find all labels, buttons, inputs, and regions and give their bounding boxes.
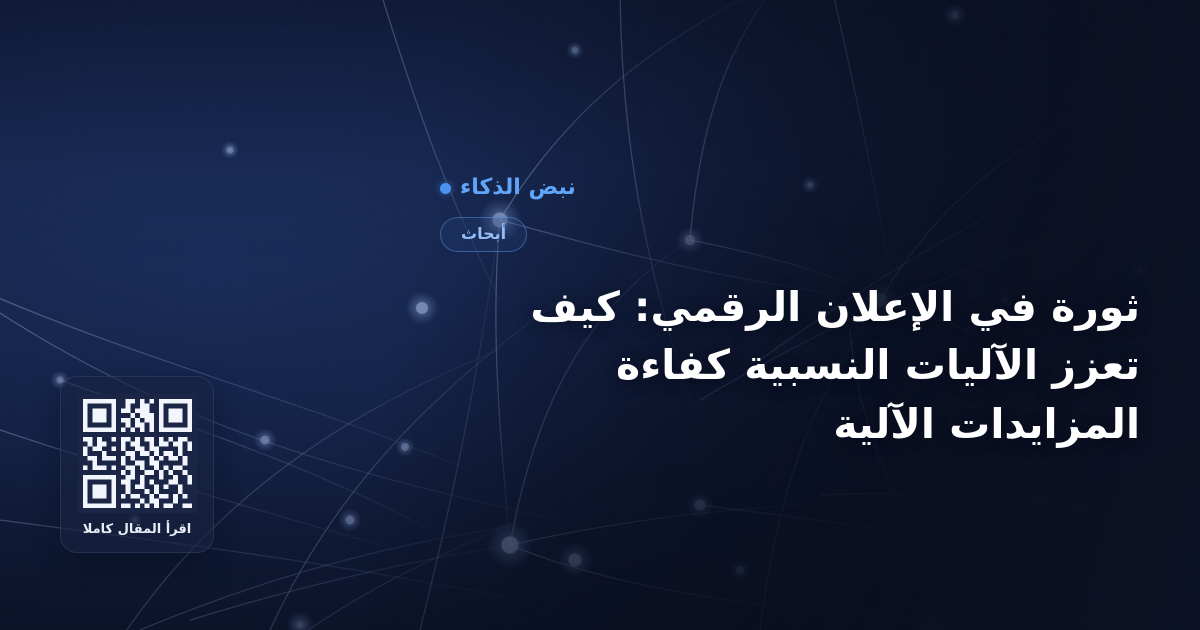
category-badge[interactable]: أبحاث — [440, 217, 527, 252]
social-share-card: اقرأ المقال كاملا نبض الذكاء أبحاث ثورة … — [0, 0, 1200, 630]
content-column: نبض الذكاء أبحاث ثورة في الإعلان الرقمي:… — [440, 0, 1200, 630]
brand-dot-icon — [440, 183, 451, 194]
qr-card[interactable]: اقرأ المقال كاملا — [60, 376, 214, 553]
page-title: ثورة في الإعلان الرقمي: كيف تعزز الآليات… — [440, 278, 1140, 453]
brand-lockup: نبض الذكاء — [440, 177, 576, 199]
qr-caption: اقرأ المقال كاملا — [83, 523, 192, 536]
qr-code-icon — [78, 394, 197, 513]
brand-name: نبض الذكاء — [460, 177, 576, 199]
